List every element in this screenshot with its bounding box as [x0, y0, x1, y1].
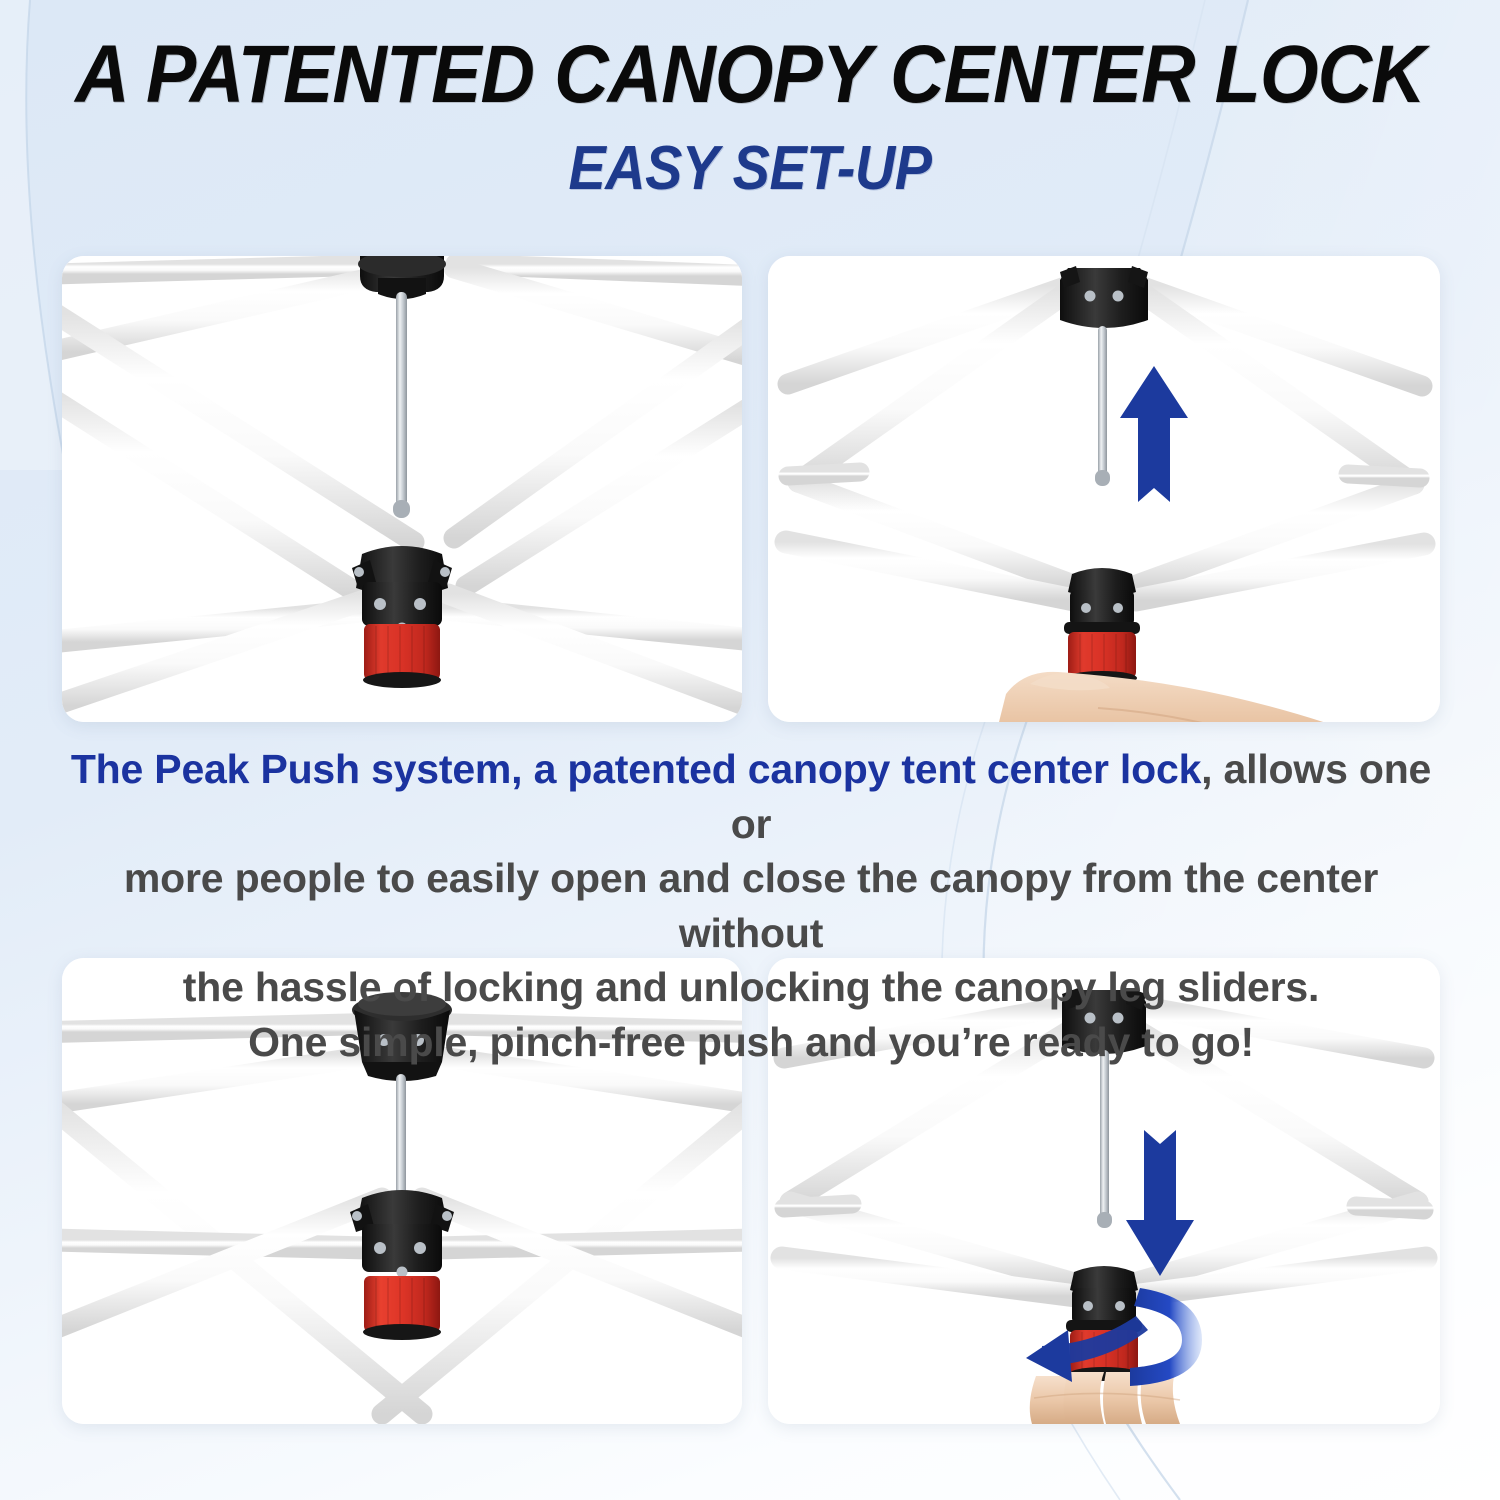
header-block: A PATENTED CANOPY CENTER LOCK EASY SET-U… [0, 34, 1500, 200]
chrome-push-rod [396, 1074, 406, 1198]
black-lock-housing [1064, 568, 1140, 634]
black-lock-housing [350, 1190, 454, 1278]
page-subtitle: EASY SET-UP [75, 138, 1425, 200]
description-paragraph: The Peak Push system, a patented canopy … [58, 742, 1444, 1069]
description-line-4: One simple, pinch-free push and you’re r… [58, 1015, 1444, 1070]
black-peak-hub [1060, 266, 1148, 328]
description-line-3: the hassle of locking and unlocking the … [58, 960, 1444, 1015]
black-lock-housing [352, 546, 452, 634]
canopy-frame-extended-illustration [62, 256, 742, 722]
hand-pushing-lock-up-illustration [768, 256, 1440, 722]
panel-hand-push-up [768, 256, 1440, 722]
page-title: A PATENTED CANOPY CENTER LOCK [60, 34, 1440, 116]
infographic-stage: A PATENTED CANOPY CENTER LOCK EASY SET-U… [0, 0, 1500, 1500]
description-line-2: more people to easily open and close the… [58, 851, 1444, 960]
red-lock-collar [363, 624, 441, 688]
panel-canopy-frame-extended [62, 256, 742, 722]
description-line-1: The Peak Push system, a patented canopy … [58, 742, 1444, 851]
description-highlight: The Peak Push system, a patented canopy … [71, 746, 1201, 792]
red-lock-collar [363, 1276, 441, 1340]
